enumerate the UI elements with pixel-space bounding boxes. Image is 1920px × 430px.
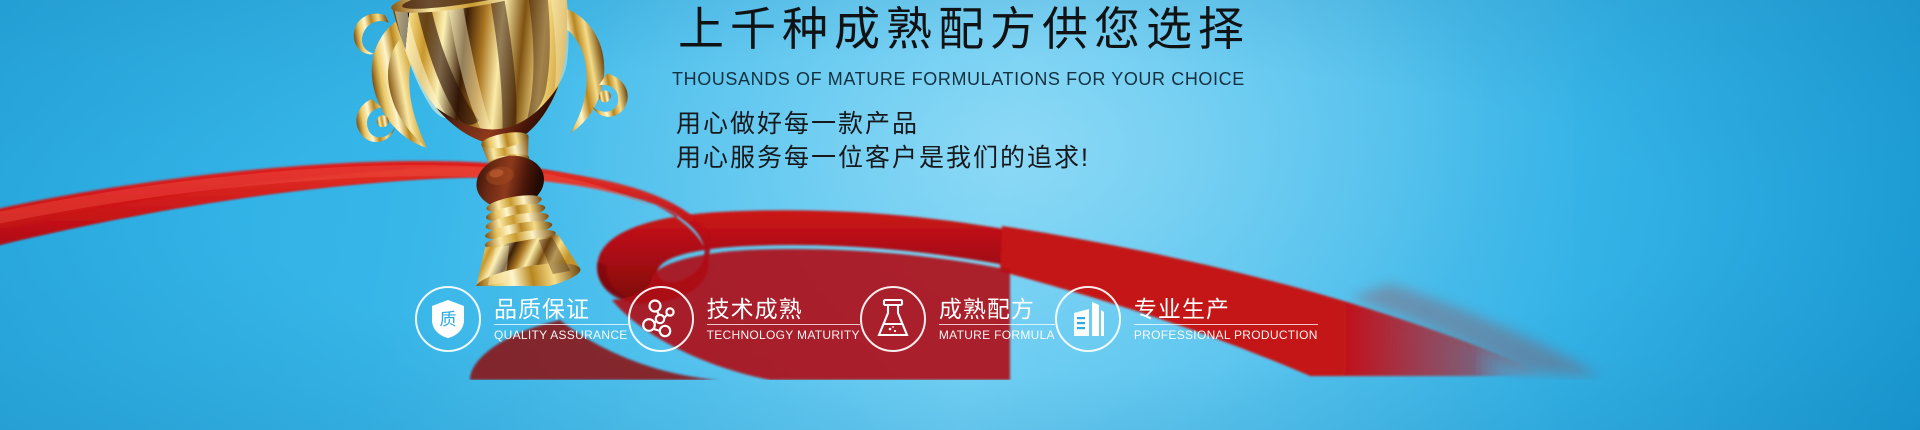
page-title: 上千种成熟配方供您选择: [678, 6, 1250, 52]
quality-shield-icon: 质: [415, 286, 481, 352]
feature-technology-maturity[interactable]: 技术成熟 TECHNOLOGY MATURITY: [628, 283, 860, 355]
feature-mature-formula[interactable]: 成熟配方 MATURE FORMULA: [860, 283, 1055, 355]
feature-quality-assurance[interactable]: 质 品质保证 QUALITY ASSURANCE: [415, 283, 628, 355]
feature-label-en: TECHNOLOGY MATURITY: [707, 329, 860, 341]
svg-text:质: 质: [440, 310, 457, 329]
feature-mature-formula-text: 成熟配方 MATURE FORMULA: [939, 297, 1055, 341]
flask-icon: [860, 286, 926, 352]
molecule-icon: [628, 286, 694, 352]
promo-banner: 上千种成熟配方供您选择 THOUSANDS OF MATURE FORMULAT…: [0, 0, 1920, 430]
factory-building-icon: [1055, 286, 1121, 352]
feature-label-cn: 品质保证: [494, 297, 628, 325]
banner-background-vignette: [0, 0, 1920, 430]
feature-label-cn: 技术成熟: [707, 297, 860, 325]
feature-quality-assurance-text: 品质保证 QUALITY ASSURANCE: [494, 297, 628, 341]
feature-label-en: PROFESSIONAL PRODUCTION: [1134, 329, 1318, 341]
feature-label-en: MATURE FORMULA: [939, 329, 1055, 341]
feature-label-cn: 成熟配方: [939, 297, 1055, 325]
feature-badge-list: 质 品质保证 QUALITY ASSURANCE: [415, 283, 1235, 363]
page-subtitle: THOUSANDS OF MATURE FORMULATIONS FOR YOU…: [672, 70, 1245, 88]
feature-label-cn: 专业生产: [1134, 297, 1318, 325]
tagline-line-2: 用心服务每一位客户是我们的追求!: [676, 146, 1090, 171]
tagline-line-1: 用心做好每一款产品: [676, 112, 919, 137]
feature-label-en: QUALITY ASSURANCE: [494, 329, 628, 341]
feature-technology-maturity-text: 技术成熟 TECHNOLOGY MATURITY: [707, 297, 860, 341]
feature-professional-production-text: 专业生产 PROFESSIONAL PRODUCTION: [1134, 297, 1318, 341]
feature-professional-production[interactable]: 专业生产 PROFESSIONAL PRODUCTION: [1055, 283, 1318, 355]
